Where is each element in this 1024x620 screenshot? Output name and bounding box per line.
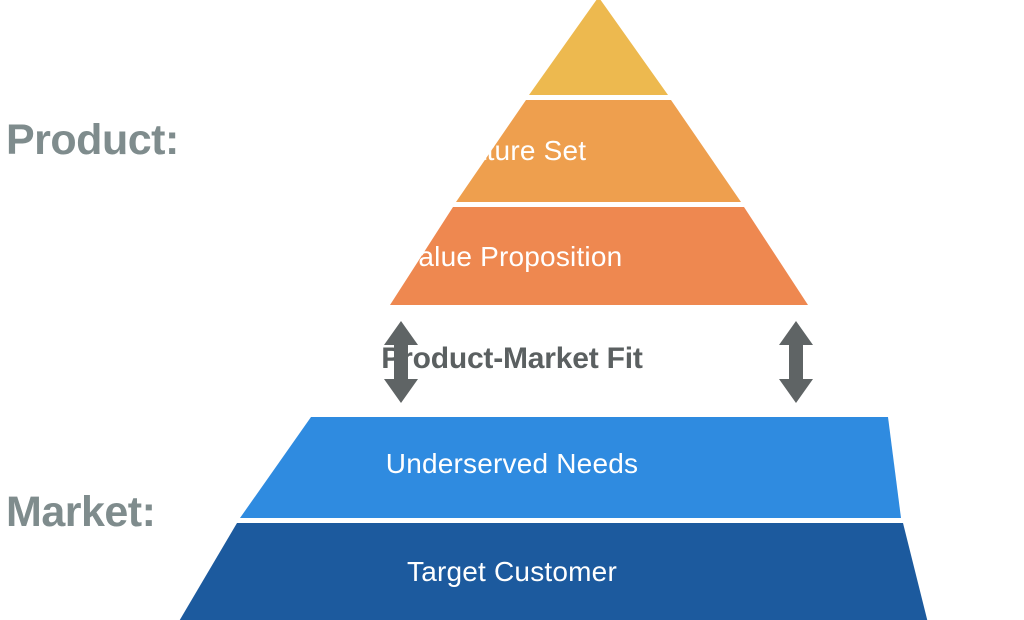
double-arrow-icon-right: [776, 320, 816, 404]
double-arrow-icon-left: [381, 320, 421, 404]
layer-label-target-customer: Target Customer: [0, 558, 1024, 586]
layer-label-ux: UX: [0, 58, 1024, 85]
product-market-fit-label: Product-Market Fit: [0, 344, 1024, 374]
layer-label-feature-set: Feature Set: [0, 137, 1024, 165]
group-label-market: Market:: [6, 491, 155, 534]
diagram-canvas: Product: Market: UX Feature Set Value Pr…: [0, 0, 1024, 620]
layer-label-value-proposition: Value Proposition: [0, 243, 1024, 271]
layer-label-underserved-needs: Underserved Needs: [0, 450, 1024, 478]
